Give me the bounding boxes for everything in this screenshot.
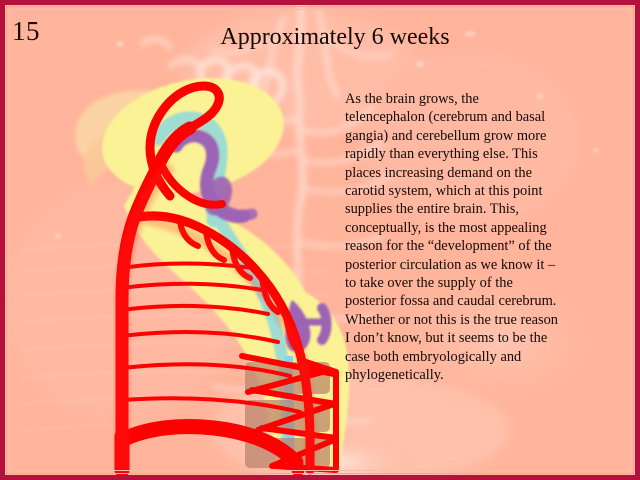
- brainstem-neural-tube: [124, 160, 349, 470]
- crescent-shadow: [76, 90, 230, 186]
- slide-number: 15: [12, 18, 40, 45]
- purple-vessel-lower: [285, 300, 326, 352]
- telencephalon-vesicle: [91, 62, 294, 210]
- neural-canal-cyan: [158, 119, 290, 470]
- purple-vessel-upper: [176, 136, 252, 219]
- presentation-slide: 15 Approximately 6 weeks As the brain gr…: [0, 0, 640, 480]
- vertebral-bodies: [245, 362, 330, 468]
- spinal-canal-blue: [289, 356, 291, 470]
- arterial-system: [122, 86, 336, 470]
- page-title: Approximately 6 weeks: [120, 24, 550, 50]
- slide-body-text: As the brain grows, the telencephalon (c…: [345, 90, 560, 385]
